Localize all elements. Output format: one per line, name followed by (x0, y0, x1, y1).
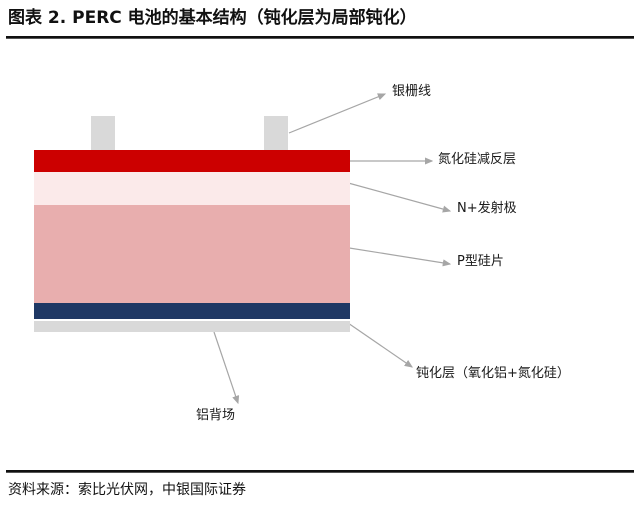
leader-line-passiv (348, 323, 412, 367)
callout-label-passivation: 钝化层（氧化铝+氮化硅） (416, 366, 570, 382)
leader-line-finger (289, 94, 385, 133)
silver-finger-left (91, 116, 115, 151)
footer-divider (6, 470, 634, 473)
leader-line-emitter (341, 181, 450, 211)
callout-label-p-type-silicon: P型硅片 (457, 254, 504, 270)
leader-line-bsf (214, 332, 238, 403)
layer-p-type-silicon (34, 205, 350, 303)
layer-antireflection-sinx (34, 150, 350, 172)
figure-canvas: 银栅线 氮化硅减反层 N+发射极 P型硅片 钝化层（氧化铝+氮化硅） 铝背场 (0, 44, 640, 464)
source-note: 资料来源：索比光伏网，中银国际证券 (8, 480, 246, 500)
leader-line-psi (343, 247, 450, 264)
callout-label-silver-finger: 银栅线 (392, 84, 431, 100)
layer-aluminum-bsf (34, 321, 350, 332)
callout-label-antireflection: 氮化硅减反层 (438, 152, 516, 168)
layer-passivation (34, 303, 350, 319)
callout-label-emitter: N+发射极 (457, 201, 517, 217)
title-divider (6, 36, 634, 39)
silver-finger-right (264, 116, 288, 151)
page-title: 图表 2. PERC 电池的基本结构（钝化层为局部钝化） (8, 6, 632, 30)
callout-label-aluminum-bsf: 铝背场 (196, 408, 235, 424)
layer-n-plus-emitter (34, 172, 350, 205)
